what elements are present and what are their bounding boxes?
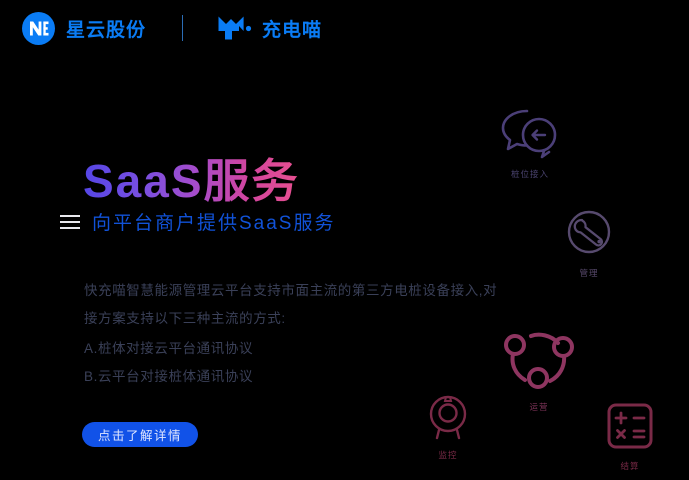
paragraph-line: 快充喵智慧能源管理云平台支持市面主流的第三方电桩设备接入,对 [84, 277, 584, 305]
camera-monitor-icon [424, 392, 472, 445]
wrench-tool-icon [563, 208, 615, 263]
learn-more-button[interactable]: 点击了解详情 [82, 422, 198, 447]
brand-divider [182, 15, 183, 41]
page-title: SaaS服务 [83, 156, 300, 207]
feature-label: 桩位接入 [511, 168, 549, 180]
brand-bar: 星云股份 充电喵 [0, 0, 689, 56]
feature-label: 运营 [529, 401, 548, 413]
share-network-icon [501, 328, 577, 397]
feature-label: 监控 [438, 449, 457, 461]
feature-management[interactable]: 管理 [563, 208, 615, 279]
chat-bubbles-access-icon [497, 105, 563, 164]
calculator-icon [605, 401, 655, 456]
subtitle-row: 向平台商户提供SaaS服务 [60, 208, 335, 235]
page-root: 星云股份 充电喵 SaaS服务 向平台商户提供SaaS服务 快充喵智慧能源管理云… [0, 0, 689, 480]
secondary-brand[interactable]: 充电喵 [217, 15, 322, 42]
cat-face-logo-icon [217, 15, 253, 41]
secondary-brand-name: 充电喵 [262, 15, 322, 42]
feature-pile-access[interactable]: 桩位接入 [497, 105, 563, 180]
primary-brand[interactable]: 星云股份 [22, 12, 146, 45]
primary-brand-name: 星云股份 [66, 15, 146, 42]
feature-label: 管理 [579, 267, 598, 279]
feature-settlement[interactable]: 结算 [605, 401, 655, 472]
feature-label: 结算 [620, 460, 639, 472]
ne-circle-logo-icon [22, 12, 55, 45]
feature-operations[interactable]: 运营 [501, 328, 577, 413]
feature-monitoring[interactable]: 监控 [424, 392, 472, 461]
hamburger-icon[interactable] [60, 215, 80, 229]
page-subtitle: 向平台商户提供SaaS服务 [92, 208, 335, 235]
